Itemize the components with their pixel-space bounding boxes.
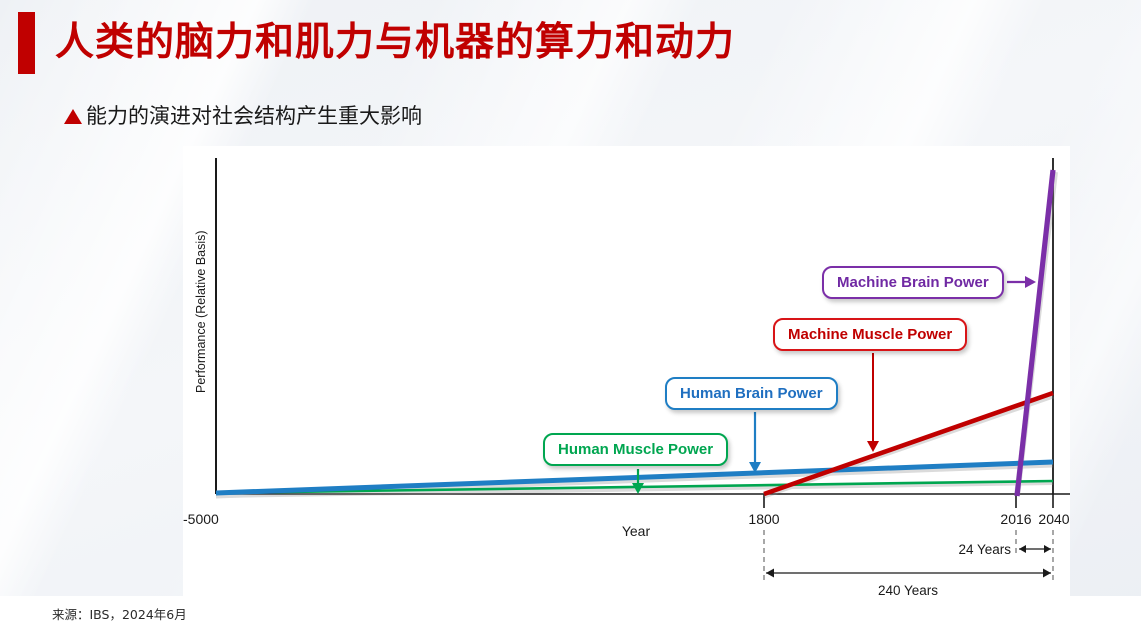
callout-human-muscle-power[interactable]: Human Muscle Power [543,433,728,466]
title-accent-bar [18,12,35,74]
chart-panel: -5000 1800 2016 2040 Year Performance (R… [183,146,1070,604]
source-note: 来源：IBS，2024年6月 [52,604,187,623]
triangle-bullet-icon [64,109,82,124]
xtick-label-2016: 2016 [1000,511,1031,527]
callout-human-brain-power[interactable]: Human Brain Power [665,377,838,410]
series-line-machine-brain-power [1017,170,1053,496]
capability-growth-chart: -5000 1800 2016 2040 Year Performance (R… [183,146,1070,604]
page-title: 人类的脑力和肌力与机器的算力和动力 [55,14,735,72]
span-guide-lines [764,530,1053,584]
xtick-label-left: -5000 [183,511,219,527]
callout-machine-brain-power[interactable]: Machine Brain Power [822,266,1004,299]
xtick-label-2040: 2040 [1038,511,1069,527]
subtitle-row: 能力的演进对社会结构产生重大影响 [64,100,422,130]
span-24-years-label: 24 Years [958,542,1011,557]
callout-machine-muscle-power[interactable]: Machine Muscle Power [773,318,967,351]
subtitle-text: 能力的演进对社会结构产生重大影响 [86,100,422,130]
y-axis-title: Performance (Relative Basis) [194,230,208,393]
span-240-years: 240 Years [766,569,1051,599]
xtick-label-1800: 1800 [748,511,779,527]
span-24-years: 24 Years [958,542,1051,557]
x-axis-title: Year [622,523,651,539]
